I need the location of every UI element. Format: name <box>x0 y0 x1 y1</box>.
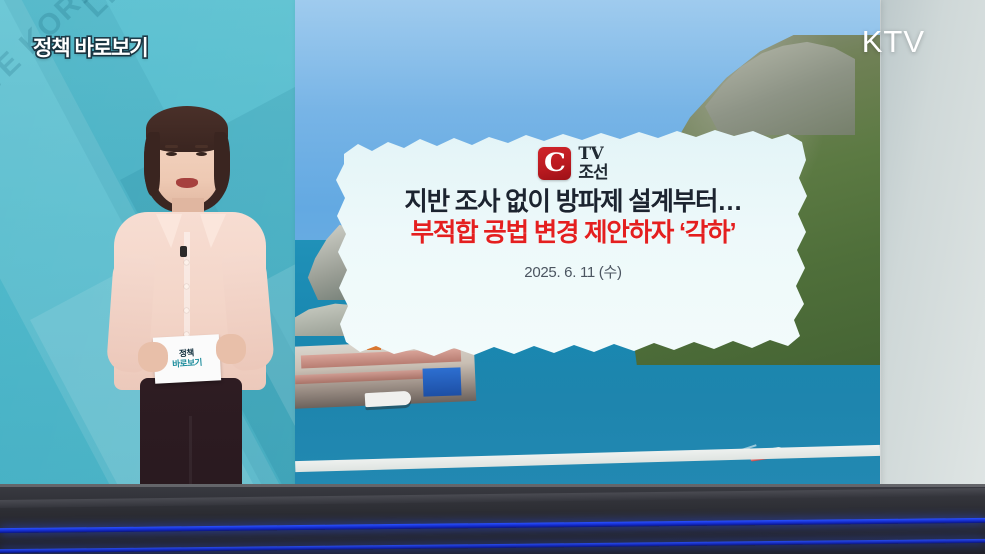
presenter-shirt-button <box>184 260 189 265</box>
presenter-held-card-text: 정책 바로보기 <box>172 348 203 369</box>
news-headline-card: C TV 조선 지반 조사 없이 방파제 설계부터… 부적합 공법 변경 제안하… <box>336 120 810 358</box>
studio-floor <box>0 484 985 554</box>
studio-floor-led-strip <box>0 518 985 533</box>
presenter-eye <box>166 152 177 156</box>
presenter-hand-right <box>216 334 246 364</box>
studio-floor-led-strip <box>0 539 985 553</box>
presenter-hair-side <box>144 132 160 196</box>
studio-floor-riser <box>0 488 985 508</box>
presenter-eyebrow <box>195 145 208 148</box>
photo-fishing-boat <box>365 391 412 407</box>
tv-chosun-wordmark-line2: 조선 <box>578 164 607 181</box>
tv-chosun-mark-icon: C <box>538 147 571 180</box>
broadcast-frame: LIVE KOREA LIVE KOREA <box>0 0 985 554</box>
presenter-held-card-line2: 바로보기 <box>172 357 202 369</box>
presenter-shirt-button <box>184 308 189 313</box>
headline-date: 2025. 6. 11 (수) <box>524 261 621 282</box>
headline-line-1: 지반 조사 없이 방파제 설계부터… <box>404 188 741 217</box>
presenter-shirt-button <box>184 284 189 289</box>
channel-logo-ktv: KTV <box>862 24 925 60</box>
presenter-eyebrow <box>165 145 178 148</box>
studio-side-panel <box>878 0 985 497</box>
tv-chosun-wordmark: TV 조선 <box>578 146 607 181</box>
presenter-eye <box>196 152 207 156</box>
photo-barge <box>423 367 462 396</box>
presenter-hand-left <box>138 342 168 372</box>
presenter-hair-side <box>214 132 230 194</box>
tv-chosun-wordmark-line1: TV <box>578 146 607 163</box>
tv-chosun-logo: C TV 조선 <box>538 146 607 181</box>
news-presenter: 정책 바로보기 <box>96 46 286 554</box>
presenter-lapel-microphone <box>180 246 187 257</box>
studio-floor-edge <box>0 484 985 487</box>
headline-line-2: 부적합 공법 변경 제안하자 ‘각하’ <box>411 219 736 248</box>
presenter-mouth <box>176 178 198 188</box>
wall-watermark-live-korea: LIVE KOREA <box>78 0 248 24</box>
program-title-badge: 정책 바로보기 <box>33 32 148 62</box>
tv-chosun-mark-glyph: C <box>544 150 566 175</box>
